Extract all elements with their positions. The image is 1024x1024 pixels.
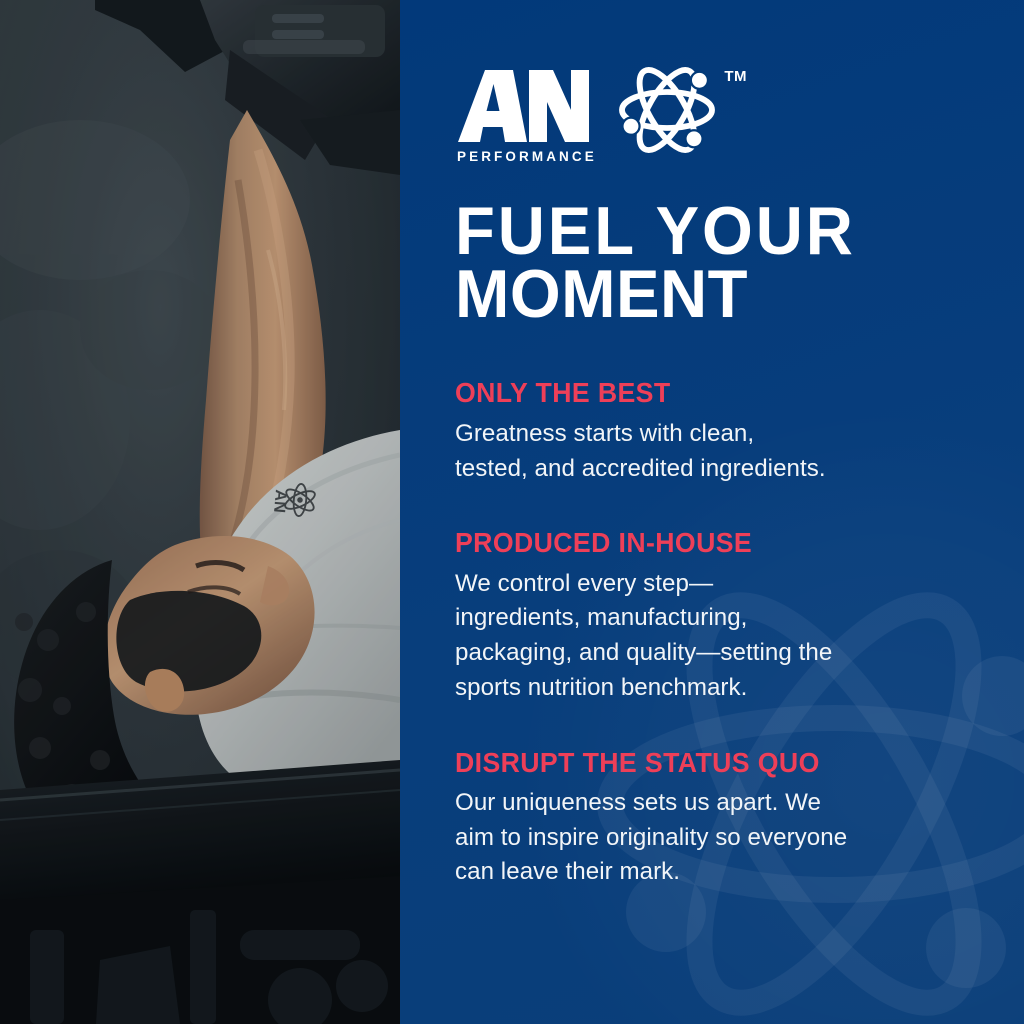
feature-body: We control every step— ingredients, manu… (455, 567, 957, 706)
feature-body-line: can leave their mark. (455, 855, 957, 890)
feature-body-line: ingredients, manufacturing, (455, 601, 957, 636)
feature-body-line: We control every step— (455, 567, 957, 602)
page-title: FUEL YOUR MOMENT (455, 200, 963, 326)
feature-heading: ONLY THE BEST (455, 378, 968, 408)
feature-heading: DISRUPT THE STATUS QUO (455, 748, 968, 778)
hero-photo: AN (0, 0, 400, 1024)
hero-photo-illustration: AN (0, 0, 400, 1024)
content-panel: PERFORMANCE (400, 0, 1024, 1024)
feature-heading: PRODUCED IN-HOUSE (455, 528, 968, 558)
feature-body-line: Greatness starts with clean, (455, 417, 957, 452)
feature-item: PRODUCED IN-HOUSE We control every step—… (455, 528, 984, 705)
brand-wordmark: PERFORMANCE (455, 62, 597, 164)
brand-logo-lockup: PERFORMANCE (455, 62, 984, 182)
feature-body-line: aim to inspire originality so everyone (455, 821, 957, 856)
headline-line-1: FUEL YOUR (455, 200, 963, 263)
brand-subtext: PERFORMANCE (457, 150, 597, 164)
feature-body: Our uniqueness sets us apart. We aim to … (455, 786, 957, 890)
brand-atom-wrap: TM (613, 56, 721, 164)
feature-list: ONLY THE BEST Greatness starts with clea… (455, 378, 984, 890)
poster-root: AN (0, 0, 1024, 1024)
an-wordmark-icon (455, 68, 591, 144)
feature-body-line: tested, and accredited ingredients. (455, 452, 957, 487)
headline-line-2: MOMENT (455, 263, 963, 326)
feature-item: DISRUPT THE STATUS QUO Our uniqueness se… (455, 748, 984, 891)
feature-body-line: sports nutrition benchmark. (455, 671, 957, 706)
feature-body-line: packaging, and quality—setting the (455, 636, 957, 671)
atom-icon (613, 56, 721, 164)
feature-item: ONLY THE BEST Greatness starts with clea… (455, 378, 984, 486)
trademark-symbol: TM (724, 68, 746, 85)
feature-body-line: Our uniqueness sets us apart. We (455, 786, 957, 821)
feature-body: Greatness starts with clean, tested, and… (455, 417, 957, 487)
